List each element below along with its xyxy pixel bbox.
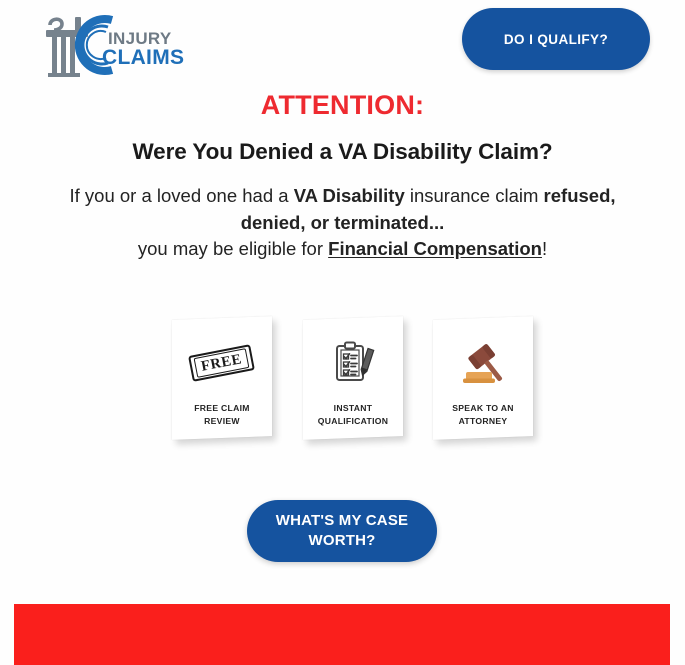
pillar-column-icon: INJURY CLAIMS bbox=[32, 8, 202, 80]
card-label-line2: QUALIFICATION bbox=[318, 416, 389, 426]
page-title: Were You Denied a VA Disability Claim? bbox=[0, 139, 685, 165]
card-label-line2: REVIEW bbox=[204, 416, 240, 426]
feature-cards: FREE FREE CLAIM REVIEW bbox=[0, 316, 685, 466]
free-stamp-text: FREE bbox=[194, 348, 250, 378]
worth-button-line1: WHAT'S MY CASE bbox=[276, 511, 408, 531]
card-label-speak-to-an-attorney: SPEAK TO AN ATTORNEY bbox=[452, 402, 514, 427]
red-footer-banner bbox=[14, 604, 670, 665]
card-label-line1: INSTANT bbox=[334, 403, 373, 413]
card-label-instant-qualification: INSTANT QUALIFICATION bbox=[318, 402, 389, 427]
body-bold-va-disability: VA Disability bbox=[294, 185, 405, 206]
logo-text-claims: CLAIMS bbox=[102, 46, 184, 69]
body-seg-1: If you or a loved one had a bbox=[69, 185, 293, 206]
do-i-qualify-button[interactable]: DO I QUALIFY? bbox=[462, 8, 650, 70]
card-instant-qualification[interactable]: INSTANT QUALIFICATION bbox=[303, 316, 403, 440]
card-label-line1: SPEAK TO AN bbox=[452, 403, 514, 413]
hero-body-copy: If you or a loved one had a VA Disabilit… bbox=[50, 183, 635, 263]
card-speak-to-an-attorney[interactable]: SPEAK TO AN ATTORNEY bbox=[433, 316, 533, 440]
whats-my-case-worth-button[interactable]: WHAT'S MY CASE WORTH? bbox=[247, 500, 437, 562]
attention-heading: ATTENTION: bbox=[0, 90, 685, 121]
injury-claims-logo[interactable]: INJURY CLAIMS bbox=[32, 8, 202, 80]
card-label-line2: ATTORNEY bbox=[459, 416, 508, 426]
body-underline-financial-compensation: Financial Compensation bbox=[328, 238, 542, 259]
body-seg-2: insurance claim bbox=[405, 185, 544, 206]
worth-button-line2: WORTH? bbox=[276, 531, 408, 551]
card-label-free-claim-review: FREE CLAIM REVIEW bbox=[194, 402, 250, 427]
card-free-claim-review[interactable]: FREE FREE CLAIM REVIEW bbox=[172, 316, 272, 440]
clipboard-checklist-pen-icon bbox=[330, 340, 376, 386]
body-seg-4: ! bbox=[542, 238, 547, 259]
body-seg-3: you may be eligible for bbox=[138, 238, 328, 259]
page-header: INJURY CLAIMS DO I QUALIFY? bbox=[0, 0, 685, 86]
card-label-line1: FREE CLAIM bbox=[194, 403, 250, 413]
do-i-qualify-label: DO I QUALIFY? bbox=[504, 32, 608, 47]
landing-page: INJURY CLAIMS DO I QUALIFY? ATTENTION: W… bbox=[0, 0, 685, 665]
free-stamp-icon: FREE bbox=[190, 340, 253, 386]
gavel-icon bbox=[458, 340, 508, 386]
